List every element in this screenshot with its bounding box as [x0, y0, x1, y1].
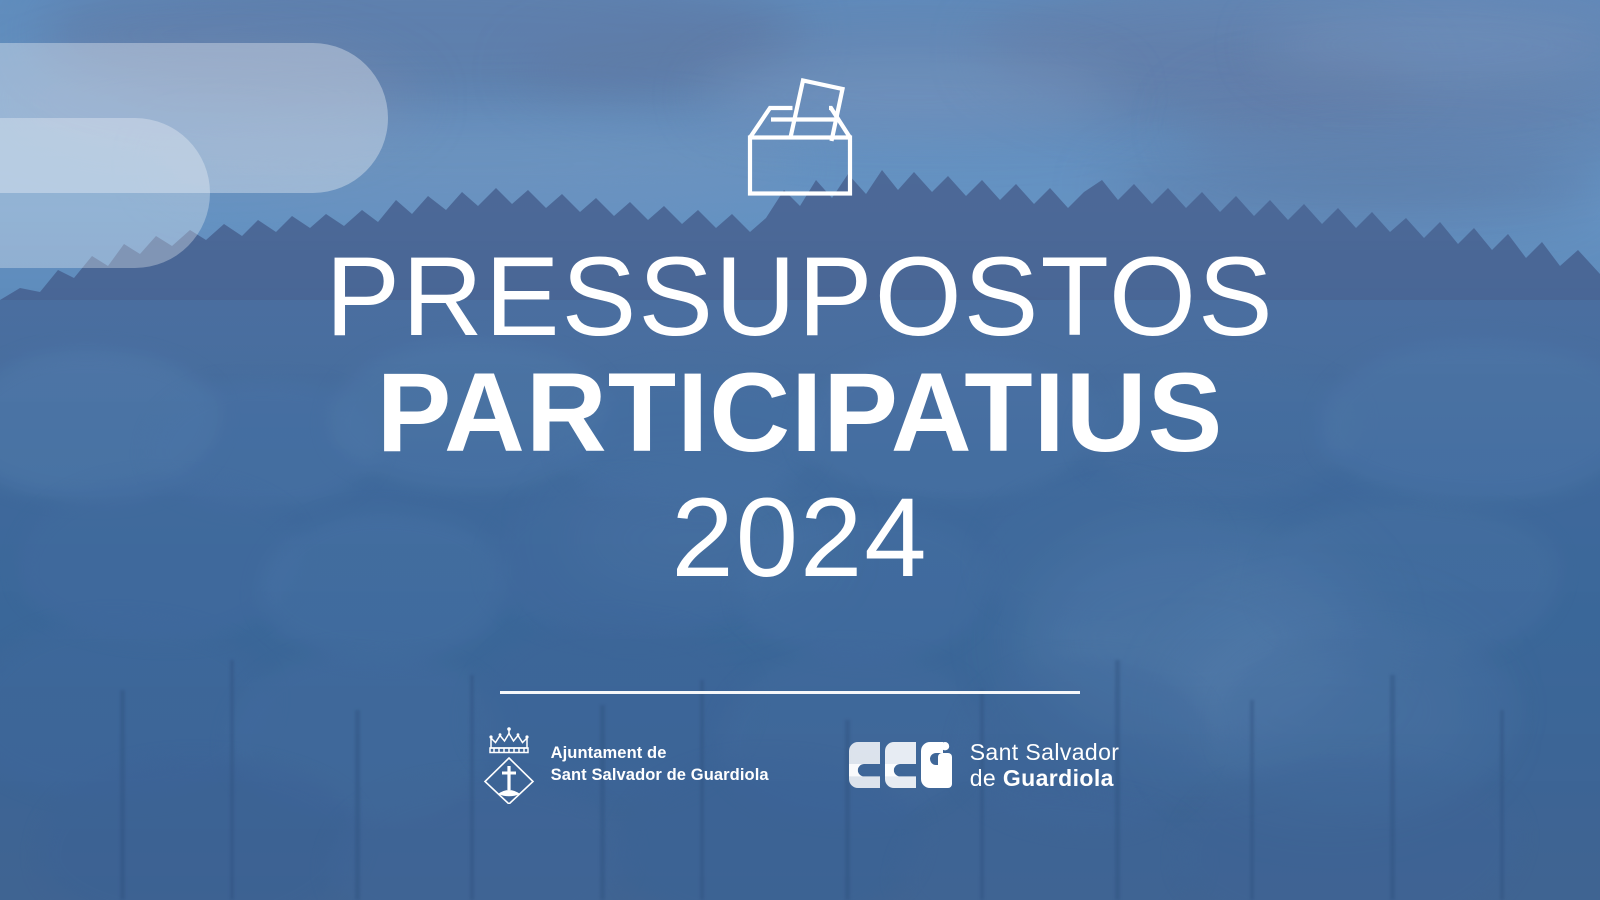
ssg-line-2: de Guardiola	[970, 765, 1120, 791]
ajuntament-coat-of-arms	[481, 726, 537, 804]
ssg-logo: Sant Salvador de Guardiola	[847, 739, 1120, 791]
title-line-2: PARTICIPATIUS	[0, 354, 1600, 473]
logo-row: Ajuntament de Sant Salvador de Guardiola	[0, 726, 1600, 804]
ajuntament-line-1: Ajuntament de	[551, 743, 769, 765]
ajuntament-logo-text: Ajuntament de Sant Salvador de Guardiola	[551, 743, 769, 787]
ssg-line-2-bold: Guardiola	[1003, 765, 1114, 791]
ballot-box-icon	[730, 62, 870, 207]
page-title: PRESSUPOSTOS PARTICIPATIUS 2024	[0, 240, 1600, 603]
poster: PRESSUPOSTOS PARTICIPATIUS 2024	[0, 0, 1600, 900]
divider-rule	[500, 691, 1080, 694]
ssg-line-2-prefix: de	[970, 765, 1003, 791]
ssg-monogram	[847, 742, 957, 788]
poster-content: PRESSUPOSTOS PARTICIPATIUS 2024	[0, 0, 1600, 900]
title-line-3: 2024	[0, 473, 1600, 603]
title-line-1: PRESSUPOSTOS	[0, 240, 1600, 354]
ajuntament-line-2: Sant Salvador de Guardiola	[551, 765, 769, 787]
ssg-logo-text: Sant Salvador de Guardiola	[970, 739, 1120, 791]
ajuntament-logo: Ajuntament de Sant Salvador de Guardiola	[481, 726, 769, 804]
ssg-line-1: Sant Salvador	[970, 739, 1120, 765]
